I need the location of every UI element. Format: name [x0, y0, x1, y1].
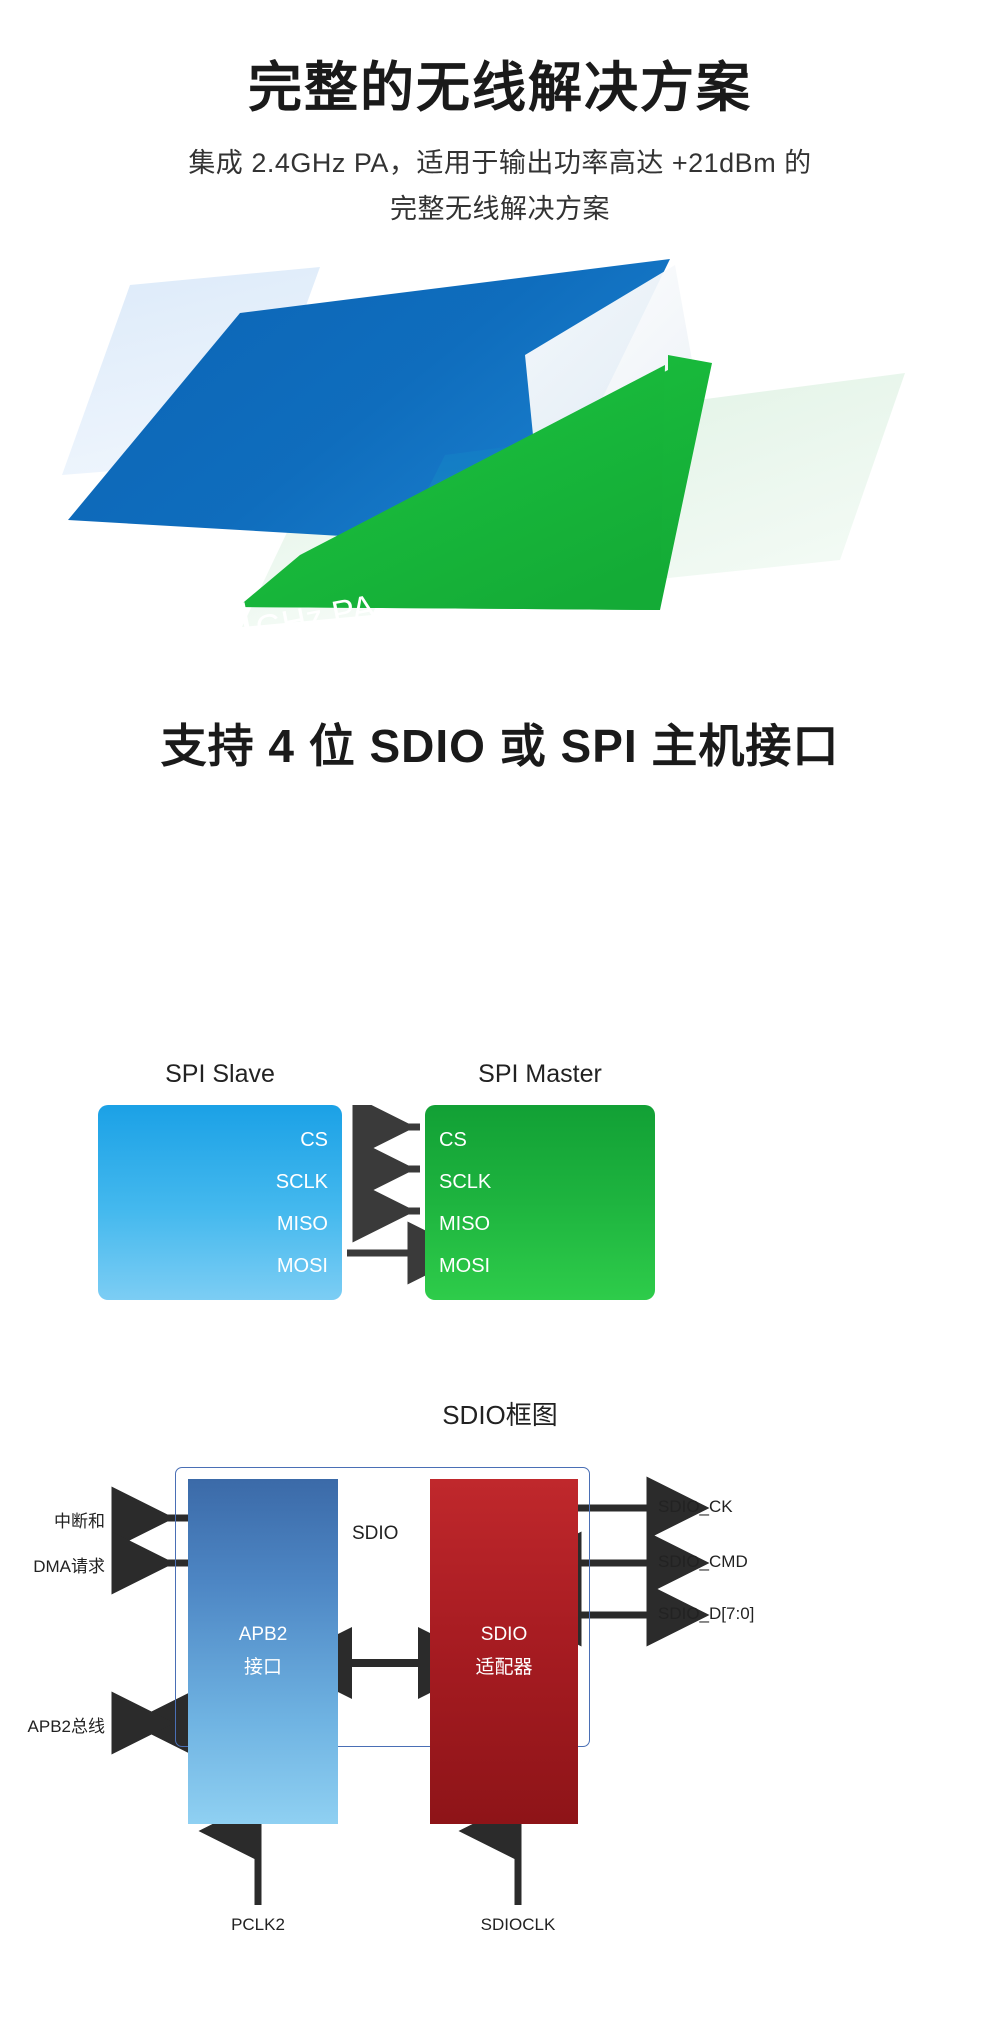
spi-master-box: CS SCLK MISO MOSI — [425, 1105, 655, 1300]
spi-section-title: 支持 4 位 SDIO 或 SPI 主机接口 — [0, 710, 1000, 776]
spi-master-signal-miso: MISO — [425, 1203, 490, 1245]
banner-blue-value: 2.4 — [172, 589, 261, 668]
sdio-bus-label: SDIO — [352, 1523, 398, 1545]
hero-banner-graphic: 2.4GHz PA 21dBm 输出功率 — [0, 255, 1000, 655]
page-subtitle: 集成 2.4GHz PA，适用于输出功率高达 +21dBm 的 完整无线解决方案 — [0, 140, 1000, 232]
spi-slave-caption: SPI Slave — [98, 1060, 342, 1089]
spi-master-caption: SPI Master — [425, 1060, 655, 1089]
sdio-apb2-subtitle: 接口 — [244, 1652, 282, 1684]
sdio-apb2-interface-block: APB2 接口 — [188, 1479, 338, 1824]
spi-signal-arrows — [342, 1105, 425, 1300]
sdio-adapter-subtitle: 适配器 — [475, 1652, 532, 1684]
spi-master-signal-sclk: SCLK — [425, 1161, 491, 1203]
page-subtitle-line1: 集成 2.4GHz PA，适用于输出功率高达 +21dBm 的 — [0, 140, 1000, 186]
banner-shapes — [0, 255, 1000, 655]
sdio-pin-data-label: SDIO_D[7:0] — [658, 1604, 754, 1624]
spi-slave-signal-miso: MISO — [277, 1203, 342, 1245]
spi-master-signal-cs: CS — [425, 1119, 467, 1161]
sdio-pin-cmd-label: SDIO_CMD — [658, 1552, 748, 1572]
sdio-pin-interrupt-label: 中断和 — [10, 1507, 105, 1532]
spi-slave-signal-sclk: SCLK — [276, 1161, 342, 1203]
sdio-pin-dma-label: DMA请求 — [10, 1552, 105, 1577]
spi-diagram: SPI Slave SPI Master CS SCLK MISO MOSI C… — [0, 1060, 1000, 1360]
sdio-adapter-block: SDIO 适配器 — [430, 1479, 578, 1824]
spi-slave-signal-mosi: MOSI — [277, 1245, 342, 1287]
sdio-pin-pclk2-label: PCLK2 — [198, 1915, 318, 1935]
spi-master-signal-mosi: MOSI — [425, 1245, 490, 1287]
page-title: 完整的无线解决方案 — [0, 56, 1000, 121]
sdio-pin-sdioclk-label: SDIOCLK — [458, 1915, 578, 1935]
sdio-block-diagram: SDIO框图 — [0, 1395, 1000, 1995]
sdio-apb2-title: APB2 — [239, 1619, 288, 1651]
sdio-adapter-title: SDIO — [481, 1619, 527, 1651]
spi-slave-box: CS SCLK MISO MOSI — [98, 1105, 342, 1300]
spi-slave-signal-cs: CS — [300, 1119, 342, 1161]
product-feature-page: 完整的无线解决方案 集成 2.4GHz PA，适用于输出功率高达 +21dBm … — [0, 0, 1000, 2042]
sdio-pin-apb2bus-label: APB2总线 — [5, 1712, 105, 1737]
page-subtitle-line2: 完整无线解决方案 — [0, 186, 1000, 232]
sdio-pin-ck-label: SDIO_CK — [658, 1497, 733, 1517]
